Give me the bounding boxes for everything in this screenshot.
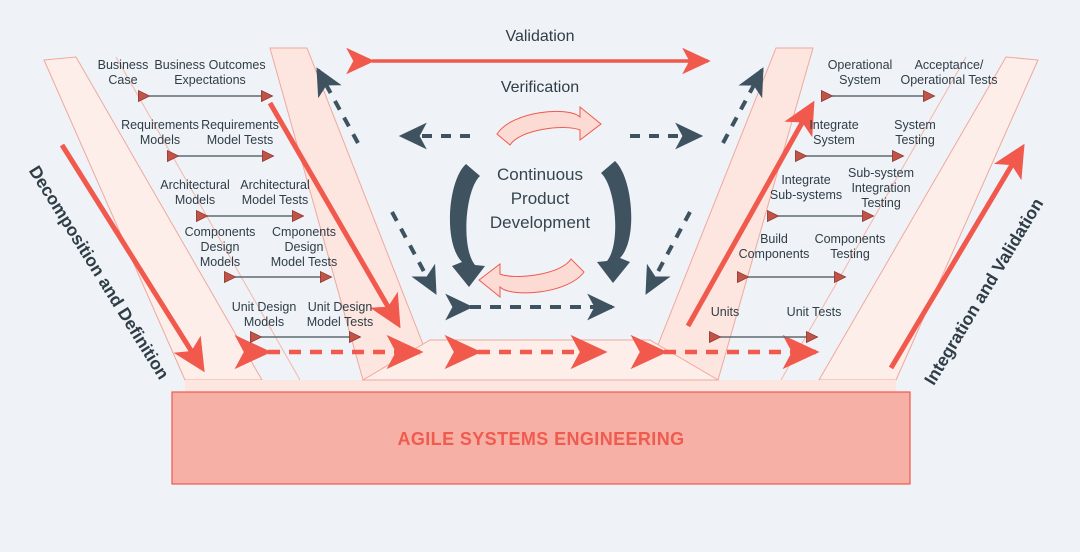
text-line: Requirements xyxy=(118,118,202,133)
cpd-line-2: Product xyxy=(480,187,600,211)
verification-title: Verification xyxy=(480,78,600,97)
left-row-2-left-label: Architectural Models xyxy=(152,178,238,208)
text-line: Models xyxy=(152,193,238,208)
text-line: Models xyxy=(178,255,262,270)
text-line: Design xyxy=(258,240,350,255)
right-row-1-right-label: System Testing xyxy=(876,118,954,148)
right-row-1-left-label: Integrate System xyxy=(795,118,873,148)
cpd-line-1: Continuous xyxy=(480,163,600,187)
text-line: Models xyxy=(222,315,306,330)
text-line: Testing xyxy=(806,247,894,262)
text-line: Model Tests xyxy=(296,315,384,330)
left-row-2-right-label: Architectural Model Tests xyxy=(230,178,320,208)
text-line: Sub-systems xyxy=(762,188,850,203)
text-line: Components xyxy=(732,247,816,262)
text-line: Architectural xyxy=(230,178,320,193)
text-line: Expectations xyxy=(148,73,272,88)
text-line: Unit Tests xyxy=(778,305,850,320)
band-outer-right xyxy=(819,57,1038,380)
text-line: Operational xyxy=(820,58,900,73)
text-line: Model Tests xyxy=(230,193,320,208)
text-line: Model Tests xyxy=(258,255,350,270)
band-inner-left xyxy=(270,48,437,380)
right-row-0-left-label: Operational System xyxy=(820,58,900,88)
text-line: Build xyxy=(732,232,816,247)
validation-title: Validation xyxy=(480,27,600,46)
text-line: Unit Design xyxy=(296,300,384,315)
text-line: Testing xyxy=(838,196,924,211)
right-row-4-left-label: Units xyxy=(692,305,758,320)
band-inner-right xyxy=(644,48,813,380)
text-line: Components xyxy=(178,225,262,240)
text-line: Integration xyxy=(838,181,924,196)
text-line: Architectural xyxy=(152,178,238,193)
text-line: Units xyxy=(692,305,758,320)
text-line: System xyxy=(820,73,900,88)
text-line: Business Outcomes xyxy=(148,58,272,73)
left-row-3-left-label: Components Design Models xyxy=(178,225,262,270)
text-line: Integrate xyxy=(795,118,873,133)
right-row-2-left-label: Integrate Sub-systems xyxy=(762,173,850,203)
left-row-4-right-label: Unit Design Model Tests xyxy=(296,300,384,330)
left-row-0-right-label: Business Outcomes Expectations xyxy=(148,58,272,88)
agile-systems-engineering-banner-text: AGILE SYSTEMS ENGINEERING xyxy=(172,429,910,450)
right-row-2-right-label: Sub-system Integration Testing xyxy=(838,166,924,211)
right-row-0-right-label: Acceptance/ Operational Tests xyxy=(890,58,1008,88)
text-line: Model Tests xyxy=(196,133,284,148)
text-line: Operational Tests xyxy=(890,73,1008,88)
left-row-1-left-label: Requirements Models xyxy=(118,118,202,148)
text-line: Testing xyxy=(876,133,954,148)
text-line: Unit Design xyxy=(222,300,306,315)
cycle-arrow-right xyxy=(597,161,631,283)
text-line: Models xyxy=(118,133,202,148)
text-line: Sub-system xyxy=(838,166,924,181)
text-line: Integrate xyxy=(762,173,850,188)
right-row-4-right-label: Unit Tests xyxy=(778,305,850,320)
text-line: Cmponents xyxy=(258,225,350,240)
cycle-arrow-top xyxy=(497,107,601,145)
text-line: Requirements xyxy=(196,118,284,133)
text-line: System xyxy=(876,118,954,133)
text-line: Design xyxy=(178,240,262,255)
left-row-3-right-label: Cmponents Design Model Tests xyxy=(258,225,350,270)
diagram-canvas: Validation Verification Continuous Produ… xyxy=(0,0,1080,552)
right-row-3-right-label: Components Testing xyxy=(806,232,894,262)
text-line: Acceptance/ xyxy=(890,58,1008,73)
cpd-line-3: Development xyxy=(480,211,600,235)
text-line: System xyxy=(795,133,873,148)
cycle-arrow-bottom xyxy=(479,259,584,297)
continuous-product-development-label: Continuous Product Development xyxy=(480,163,600,235)
right-row-3-left-label: Build Components xyxy=(732,232,816,262)
left-row-4-left-label: Unit Design Models xyxy=(222,300,306,330)
left-row-1-right-label: Requirements Model Tests xyxy=(196,118,284,148)
text-line: Components xyxy=(806,232,894,247)
